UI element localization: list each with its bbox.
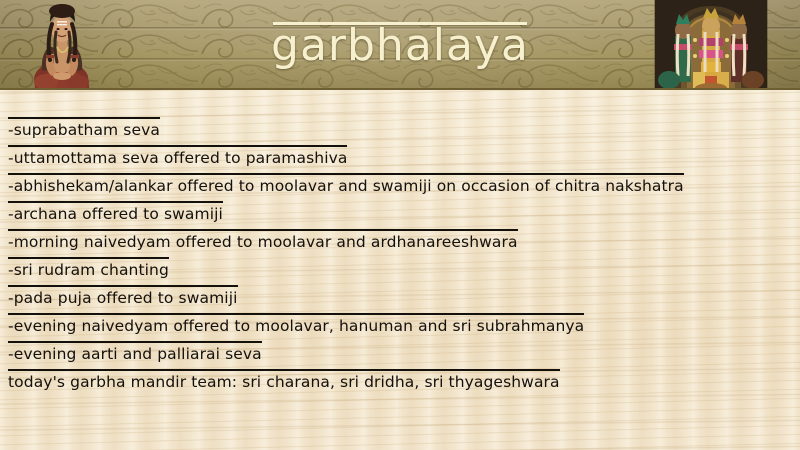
content-line: -evening naivedyam offered to moolavar, … [8,311,584,339]
page-title: garbhalaya [0,16,800,73]
content-line: -evening aarti and palliarai seva [8,339,262,367]
content-line: -sri rudram chanting [8,255,169,283]
content-line: -uttamottama seva offered to paramashiva [8,143,347,171]
content-line: -pada puja offered to swamiji [8,283,238,311]
content-line: -abhishekam/alankar offered to moolavar … [8,171,684,199]
page-title-text: garbhalaya [271,16,529,73]
content-line: -archana offered to swamiji [8,199,223,227]
slide-page: garbhalaya [0,0,800,450]
content-line: -morning naivedyam offered to moolavar a… [8,227,518,255]
header-banner: garbhalaya [0,0,800,90]
content-line: today's garbha mandir team: sri charana,… [8,367,560,395]
content-line: -suprabatham seva [8,115,160,143]
content-text-block: -suprabatham seva -uttamottama seva offe… [0,90,800,450]
